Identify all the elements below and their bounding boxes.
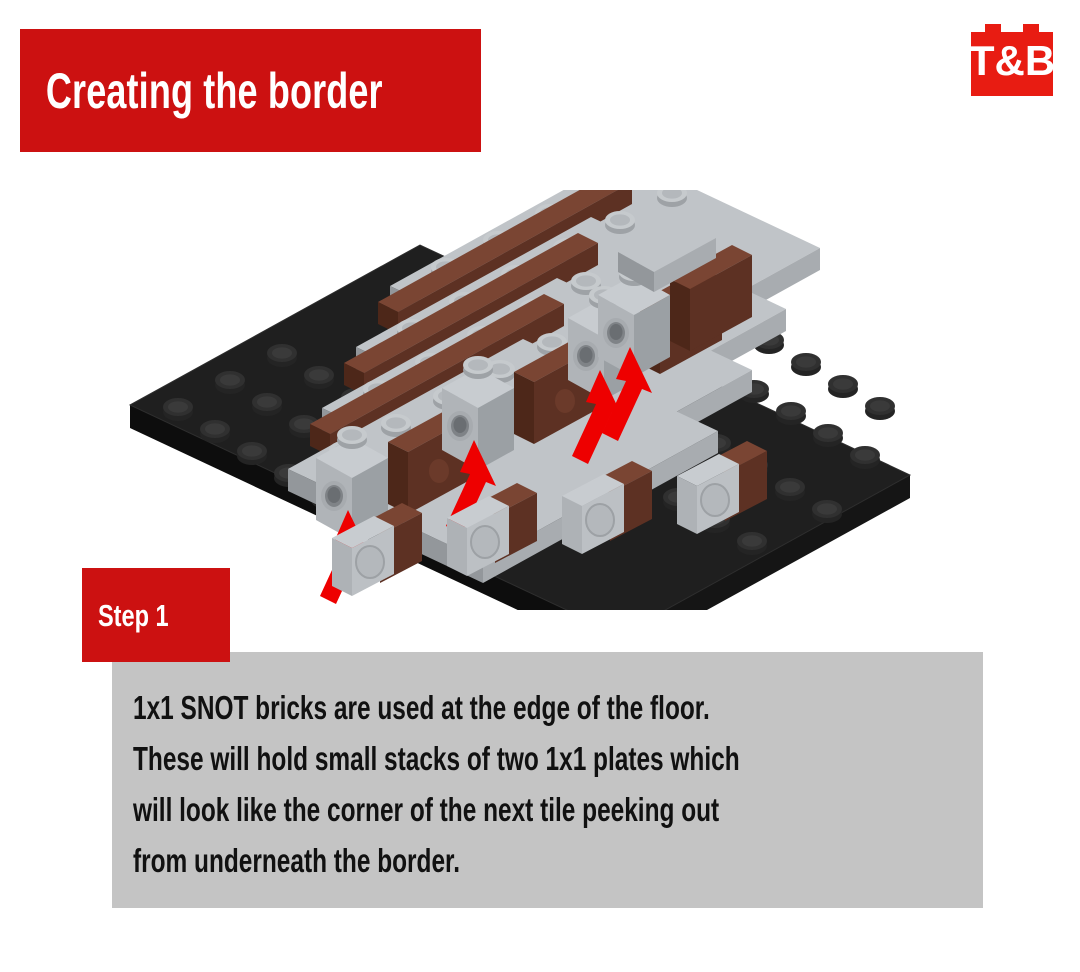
instruction-text: 1x1 SNOT bricks are used at the edge of … — [133, 682, 963, 886]
infographic-page: Creating the border T&B — [0, 0, 1080, 972]
instruction-line-4: from underneath the border. — [133, 835, 747, 886]
lego-brick-logo: T&B — [963, 14, 1061, 96]
title-banner: Creating the border — [20, 29, 481, 152]
page-title: Creating the border — [20, 66, 383, 116]
step-badge-label: Step 1 — [82, 600, 169, 631]
instruction-line-3: will look like the corner of the next ti… — [133, 784, 747, 835]
instruction-line-2: These will hold small stacks of two 1x1 … — [133, 733, 747, 784]
logo-text: T&B — [969, 37, 1055, 84]
step-badge: Step 1 — [82, 568, 230, 662]
lego-build-illustration — [120, 190, 950, 610]
instruction-line-1: 1x1 SNOT bricks are used at the edge of … — [133, 682, 747, 733]
